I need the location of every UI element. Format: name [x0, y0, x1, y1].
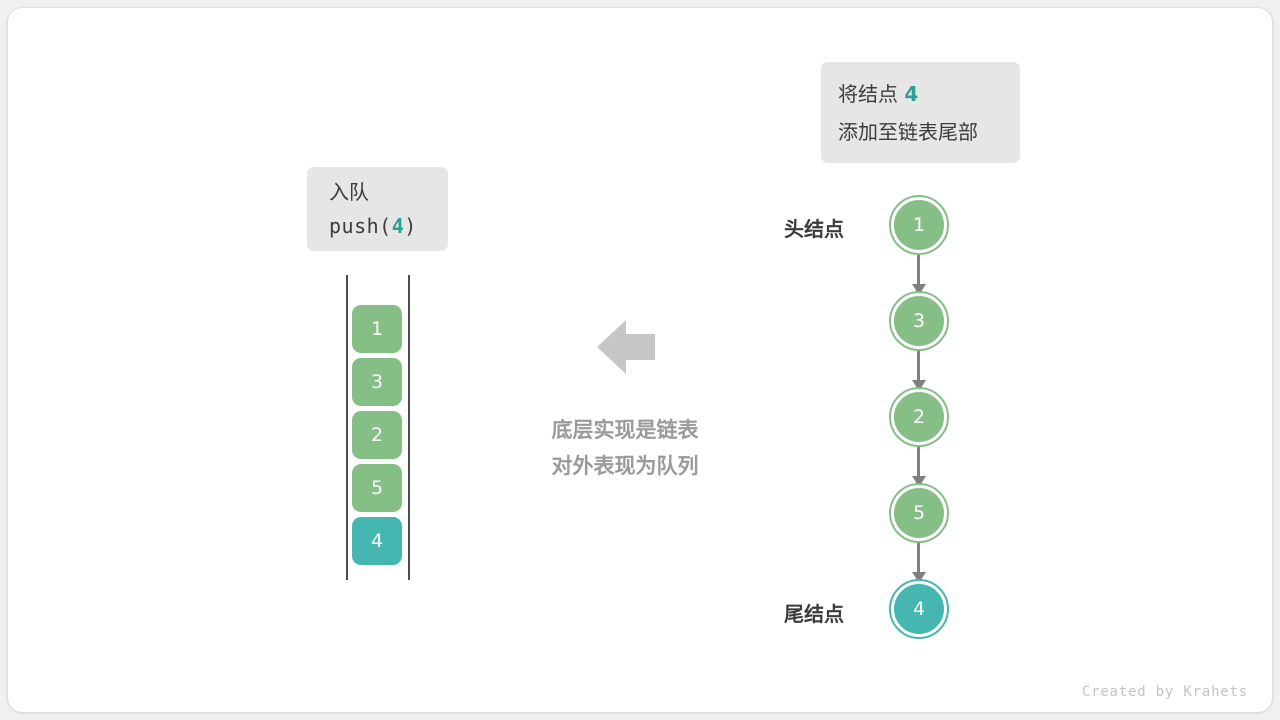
footer-credit: Created by Krahets	[1082, 684, 1248, 700]
list-node: 4	[891, 581, 947, 637]
push-note-line1: 入队	[329, 175, 448, 209]
list-link-line	[917, 447, 920, 478]
append-note-prefix: 将结点	[838, 82, 904, 106]
caption-line2: 对外表现为队列	[500, 448, 750, 484]
push-note-line2: push(4)	[329, 209, 448, 243]
list-node: 2	[891, 389, 947, 445]
queue-item: 5	[352, 464, 402, 512]
queue-rail-right	[408, 275, 410, 580]
linked-list: 头结点 尾结点 13254	[770, 180, 1020, 660]
push-note-value: 4	[392, 214, 405, 238]
queue-item: 1	[352, 305, 402, 353]
queue-item: 4	[352, 517, 402, 565]
caption-text: 底层实现是链表 对外表现为队列	[500, 412, 750, 484]
list-node: 5	[891, 485, 947, 541]
list-link-line	[917, 351, 920, 382]
left-arrow-icon	[597, 320, 655, 374]
append-note-value: 4	[904, 82, 918, 106]
queue-item: 3	[352, 358, 402, 406]
append-note-line1: 将结点 4	[838, 75, 1020, 113]
list-link-line	[917, 543, 920, 574]
queue-column: 13254	[330, 275, 430, 595]
push-note-prefix: push(	[329, 214, 392, 238]
queue-rail-left	[346, 275, 348, 580]
push-note-box: 入队 push(4)	[307, 167, 448, 251]
push-note-suffix: )	[404, 214, 417, 238]
caption-line1: 底层实现是链表	[500, 412, 750, 448]
list-node: 3	[891, 293, 947, 349]
list-link-line	[917, 255, 920, 286]
queue-item: 2	[352, 411, 402, 459]
diagram-canvas: 入队 push(4) 将结点 4 添加至链表尾部 13254 底层实现是链表 对…	[0, 0, 1280, 720]
tail-node-label: 尾结点	[784, 598, 844, 627]
append-note-box: 将结点 4 添加至链表尾部	[821, 62, 1020, 163]
append-note-line2: 添加至链表尾部	[838, 113, 1020, 151]
head-node-label: 头结点	[784, 213, 844, 242]
list-node: 1	[891, 197, 947, 253]
